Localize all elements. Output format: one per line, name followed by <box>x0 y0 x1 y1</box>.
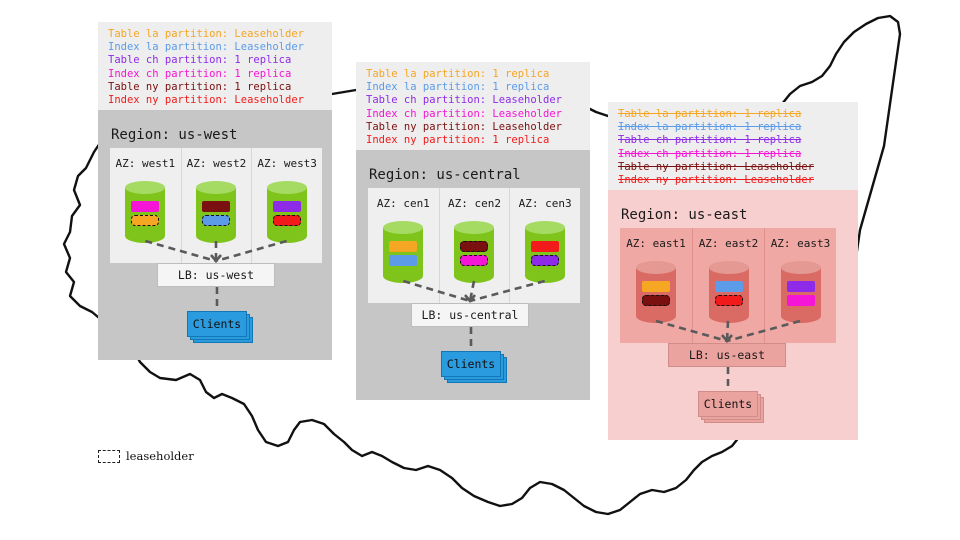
callout-line: Index ny partition: Leaseholder <box>618 174 850 187</box>
database-node-icon <box>709 261 749 323</box>
callout-line: Table ch partition: Leaseholder <box>366 94 582 107</box>
database-node-icon <box>781 261 821 323</box>
database-node-icon <box>636 261 676 323</box>
callout-line: Index ny partition: 1 replica <box>366 134 582 147</box>
az-title: AZ: west3 <box>257 157 317 170</box>
callout-line: Table ch partition: 1 replica <box>618 134 850 147</box>
az-cen3[interactable]: AZ: cen3 <box>509 188 580 303</box>
clients-label: Clients <box>447 357 495 371</box>
legend-label: leaseholder <box>126 449 194 463</box>
lb-label: LB: us-east <box>689 348 765 362</box>
lb-us-west[interactable]: LB: us-west <box>157 263 275 287</box>
callout-line: Table la partition: 1 replica <box>618 108 850 121</box>
database-node-icon <box>196 181 236 243</box>
database-node-icon <box>267 181 307 243</box>
range-replica <box>787 281 815 292</box>
range-replica <box>131 201 159 212</box>
az-title: AZ: east2 <box>699 237 759 250</box>
az-panel-us-west: AZ: west1AZ: west2AZ: west3 <box>110 148 322 263</box>
database-node-icon <box>125 181 165 243</box>
range-replica <box>531 241 559 252</box>
diagram-canvas: Table la partition: LeaseholderIndex la … <box>0 0 960 540</box>
callout-line: Table ny partition: Leaseholder <box>618 161 850 174</box>
legend-leaseholder: leaseholder <box>98 449 194 463</box>
az-title: AZ: cen2 <box>448 197 501 210</box>
callout-us-east: Table la partition: 1 replicaIndex la pa… <box>608 102 858 190</box>
callout-line: Table la partition: Leaseholder <box>108 28 324 41</box>
region-title-us-central: Region: us-central <box>369 167 521 183</box>
callout-line: Table ny partition: Leaseholder <box>366 121 582 134</box>
range-replica <box>389 255 417 266</box>
az-title: AZ: west1 <box>116 157 176 170</box>
callout-line: Index ch partition: Leaseholder <box>366 108 582 121</box>
range-replica <box>202 201 230 212</box>
database-node-icon <box>383 221 423 283</box>
az-panel-us-central: AZ: cen1AZ: cen2AZ: cen3 <box>368 188 580 303</box>
clients-label: Clients <box>704 397 752 411</box>
database-node-icon <box>525 221 565 283</box>
region-title-us-east: Region: us-east <box>621 207 747 223</box>
az-cen2[interactable]: AZ: cen2 <box>439 188 510 303</box>
callout-line: Table ch partition: 1 replica <box>108 54 324 67</box>
az-east1[interactable]: AZ: east1 <box>620 228 692 343</box>
range-replica-leaseholder <box>715 295 743 306</box>
az-cen1[interactable]: AZ: cen1 <box>368 188 439 303</box>
callout-line: Index la partition: 1 replica <box>366 81 582 94</box>
clients-us-central[interactable]: Clients <box>441 351 501 377</box>
callout-line: Index la partition: 1 replica <box>618 121 850 134</box>
range-replica <box>642 281 670 292</box>
clients-us-west[interactable]: Clients <box>187 311 247 337</box>
callout-line: Table ny partition: 1 replica <box>108 81 324 94</box>
callout-line: Index ch partition: 1 replica <box>108 68 324 81</box>
range-replica-leaseholder <box>642 295 670 306</box>
callout-line: Table la partition: 1 replica <box>366 68 582 81</box>
range-replica-leaseholder <box>202 215 230 226</box>
callout-line: Index ny partition: Leaseholder <box>108 94 324 107</box>
lb-label: LB: us-west <box>178 268 254 282</box>
callout-line: Index la partition: Leaseholder <box>108 41 324 54</box>
az-title: AZ: west2 <box>187 157 247 170</box>
range-replica <box>389 241 417 252</box>
lb-label: LB: us-central <box>422 308 519 322</box>
range-replica <box>715 281 743 292</box>
range-replica-leaseholder <box>531 255 559 266</box>
range-replica-leaseholder <box>460 255 488 266</box>
dashed-box-icon <box>98 450 120 463</box>
az-west3[interactable]: AZ: west3 <box>251 148 322 263</box>
az-west1[interactable]: AZ: west1 <box>110 148 181 263</box>
lb-us-east[interactable]: LB: us-east <box>668 343 786 367</box>
range-replica-leaseholder <box>131 215 159 226</box>
callout-us-west: Table la partition: LeaseholderIndex la … <box>98 22 332 110</box>
az-east2[interactable]: AZ: east2 <box>692 228 764 343</box>
region-title-us-west: Region: us-west <box>111 127 237 143</box>
clients-us-east[interactable]: Clients <box>698 391 758 417</box>
az-title: AZ: east3 <box>771 237 831 250</box>
az-panel-us-east: AZ: east1AZ: east2AZ: east3 <box>620 228 836 343</box>
clients-label: Clients <box>193 317 241 331</box>
az-west2[interactable]: AZ: west2 <box>181 148 252 263</box>
az-title: AZ: cen3 <box>519 197 572 210</box>
callout-line: Index ch partition: 1 replica <box>618 148 850 161</box>
lb-us-central[interactable]: LB: us-central <box>411 303 529 327</box>
az-east3[interactable]: AZ: east3 <box>764 228 836 343</box>
az-title: AZ: east1 <box>626 237 686 250</box>
range-replica <box>273 201 301 212</box>
az-title: AZ: cen1 <box>377 197 430 210</box>
range-replica-leaseholder <box>460 241 488 252</box>
database-node-icon <box>454 221 494 283</box>
callout-us-central: Table la partition: 1 replicaIndex la pa… <box>356 62 590 150</box>
range-replica-leaseholder <box>273 215 301 226</box>
range-replica <box>787 295 815 306</box>
